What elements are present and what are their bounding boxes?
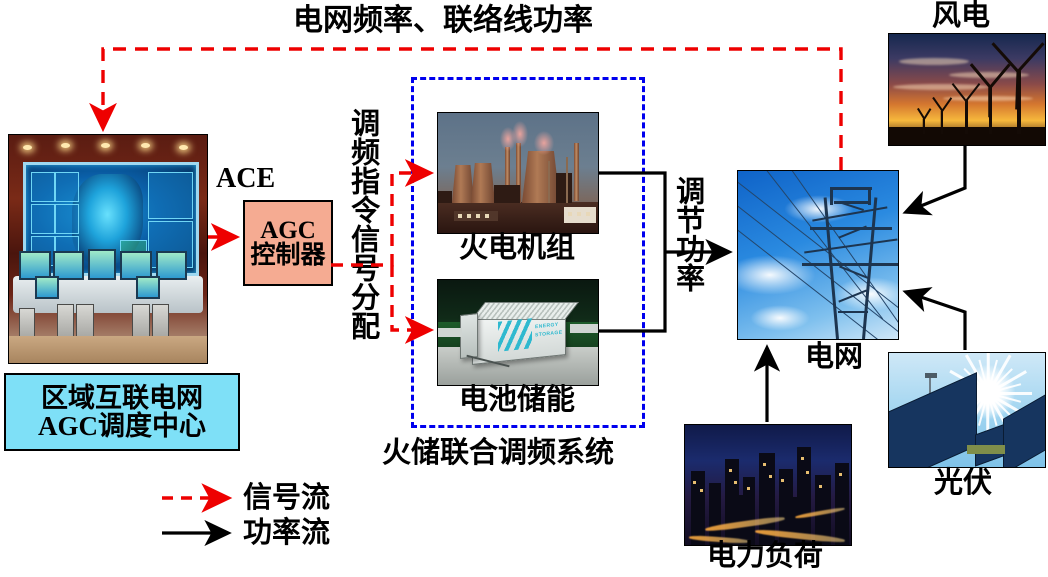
connector-layer: [0, 0, 1048, 577]
signal-flow-dispatch: [331, 173, 430, 330]
power-flow-to-grid: [598, 173, 729, 331]
diagram-canvas: ENERGY STORAGE: [0, 0, 1048, 577]
power-flow-solar-to-grid: [906, 292, 965, 350]
power-flow-wind-to-grid: [906, 146, 965, 212]
signal-flow-feedback: [103, 49, 841, 170]
